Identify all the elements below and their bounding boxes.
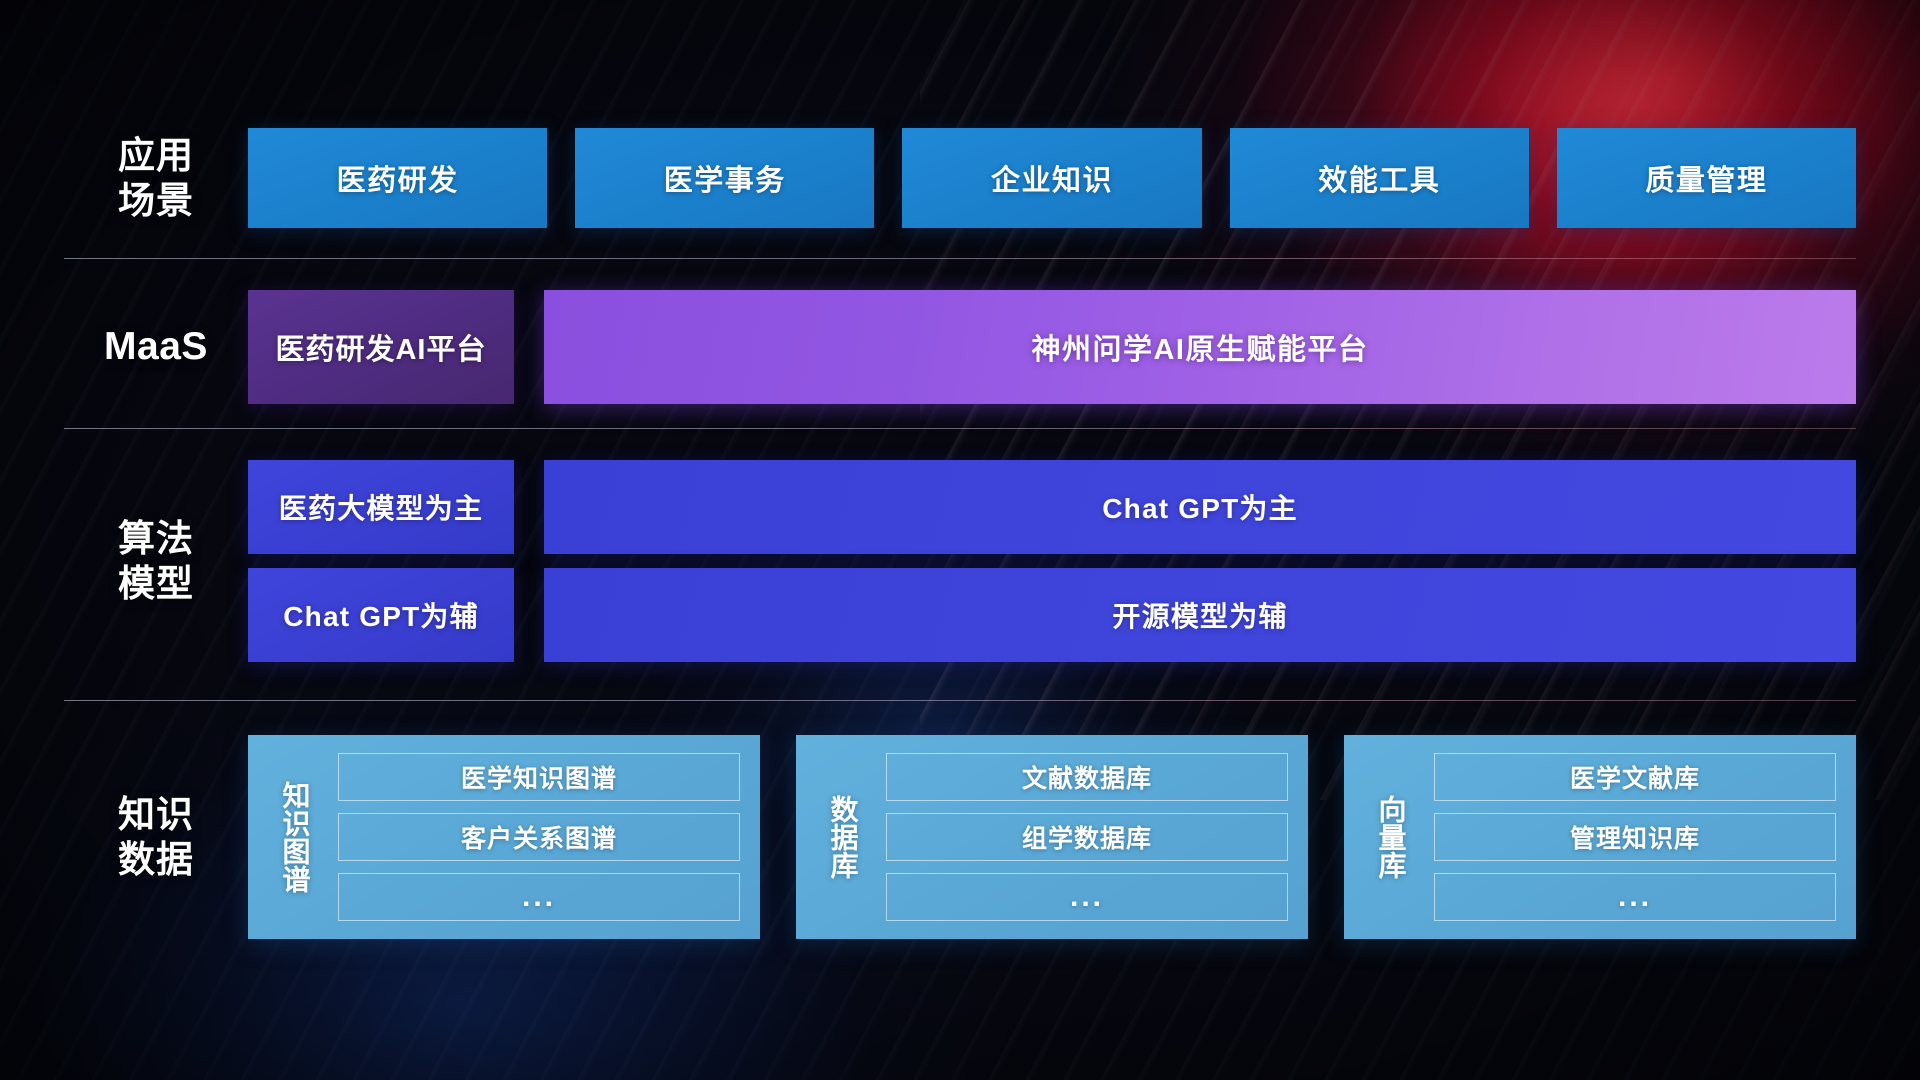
kd-item-customer-relation-graph[interactable]: 客户关系图谱: [338, 813, 740, 861]
row-label-line: 数据: [64, 837, 248, 882]
divider-2: [64, 428, 1856, 429]
kd-item-omics-database[interactable]: 组学数据库: [886, 813, 1288, 861]
row-label-knowledge-data: 知识 数据: [64, 792, 248, 882]
diagram-frame: 应用 场景 医药研发 医学事务 企业知识 效能工具 质量管理 MaaS 医药研发…: [0, 0, 1920, 1080]
algorithm-stack: 医药大模型为主 Chat GPT为主 Chat GPT为辅 开源模型为辅: [248, 460, 1856, 662]
maas-boxes: 医药研发AI平台 神州问学AI原生赋能平台: [248, 290, 1856, 404]
app-box-pharma-rd[interactable]: 医药研发: [248, 128, 547, 228]
divider-3: [64, 700, 1856, 701]
kd-item-medical-literature-store[interactable]: 医学文献库: [1434, 753, 1836, 801]
row-algorithm-models: 算法 模型 医药大模型为主 Chat GPT为主 Chat GPT为辅 开源模型…: [64, 460, 1856, 662]
kd-item-medical-knowledge-graph[interactable]: 医学知识图谱: [338, 753, 740, 801]
row-label-line: 算法: [64, 516, 248, 561]
application-boxes: 医药研发 医学事务 企业知识 效能工具 质量管理: [248, 128, 1856, 228]
kd-item-more-knowledge-graph[interactable]: ...: [338, 873, 740, 921]
row-label-maas: MaaS: [64, 323, 248, 371]
knowledge-group-database: 数据库 文献数据库 组学数据库 ...: [796, 735, 1308, 939]
maas-box-shenzhou-wenxue-platform[interactable]: 神州问学AI原生赋能平台: [544, 290, 1856, 404]
kd-item-more-vector-store[interactable]: ...: [1434, 873, 1836, 921]
row-label-application-scenarios: 应用 场景: [64, 133, 248, 223]
algorithm-boxes: 医药大模型为主 Chat GPT为主 Chat GPT为辅 开源模型为辅: [248, 460, 1856, 662]
divider-1: [64, 258, 1856, 259]
algo-box-opensource-secondary[interactable]: 开源模型为辅: [544, 568, 1856, 662]
knowledge-group-label-vector-store: 向量库: [1360, 753, 1422, 921]
algo-box-chatgpt-primary[interactable]: Chat GPT为主: [544, 460, 1856, 554]
row-label-line: 场景: [64, 178, 248, 223]
knowledge-group-label-database: 数据库: [812, 753, 874, 921]
knowledge-groups: 知识图谱 医学知识图谱 客户关系图谱 ... 数据库 文献数据库 组学数据库 .…: [248, 735, 1856, 939]
knowledge-group-knowledge-graph: 知识图谱 医学知识图谱 客户关系图谱 ...: [248, 735, 760, 939]
row-label-line: 知识: [64, 792, 248, 837]
row-label-line: 应用: [64, 133, 248, 178]
kd-item-management-knowledge-store[interactable]: 管理知识库: [1434, 813, 1836, 861]
maas-box-pharma-ai-platform[interactable]: 医药研发AI平台: [248, 290, 514, 404]
row-label-line: 模型: [64, 561, 248, 606]
row-label-algorithm-models: 算法 模型: [64, 516, 248, 606]
knowledge-group-wrap: 知识图谱 医学知识图谱 客户关系图谱 ... 数据库 文献数据库 组学数据库 .…: [248, 735, 1856, 939]
knowledge-group-label-knowledge-graph: 知识图谱: [264, 753, 326, 921]
algorithm-line-secondary: Chat GPT为辅 开源模型为辅: [248, 568, 1856, 662]
row-maas: MaaS 医药研发AI平台 神州问学AI原生赋能平台: [64, 290, 1856, 404]
app-box-efficiency-tools[interactable]: 效能工具: [1230, 128, 1529, 228]
kd-item-more-database[interactable]: ...: [886, 873, 1288, 921]
knowledge-items-knowledge-graph: 医学知识图谱 客户关系图谱 ...: [338, 753, 740, 921]
row-knowledge-data: 知识 数据 知识图谱 医学知识图谱 客户关系图谱 ... 数据库 文献数据库: [64, 735, 1856, 939]
app-box-quality-management[interactable]: 质量管理: [1557, 128, 1856, 228]
knowledge-group-vector-store: 向量库 医学文献库 管理知识库 ...: [1344, 735, 1856, 939]
algo-box-chatgpt-secondary[interactable]: Chat GPT为辅: [248, 568, 514, 662]
app-box-medical-affairs[interactable]: 医学事务: [575, 128, 874, 228]
kd-item-literature-database[interactable]: 文献数据库: [886, 753, 1288, 801]
algo-box-pharma-llm-primary[interactable]: 医药大模型为主: [248, 460, 514, 554]
app-box-enterprise-knowledge[interactable]: 企业知识: [902, 128, 1201, 228]
row-application-scenarios: 应用 场景 医药研发 医学事务 企业知识 效能工具 质量管理: [64, 128, 1856, 228]
knowledge-items-vector-store: 医学文献库 管理知识库 ...: [1434, 753, 1836, 921]
algorithm-line-primary: 医药大模型为主 Chat GPT为主: [248, 460, 1856, 554]
knowledge-items-database: 文献数据库 组学数据库 ...: [886, 753, 1288, 921]
